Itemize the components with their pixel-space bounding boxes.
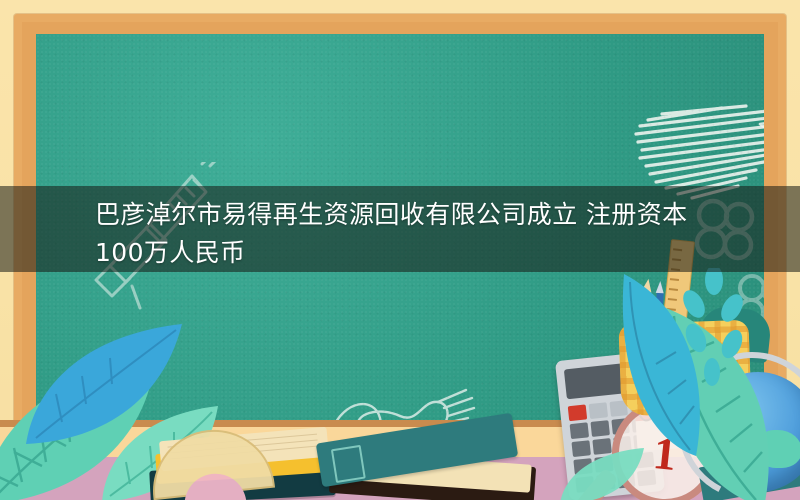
headline-text: 巴彦淖尔市易得再生资源回收有限公司成立 注册资本100万人民币	[95, 196, 725, 272]
thumbnail-image: 64 1 Home School	[0, 0, 800, 500]
protractor-cutout	[181, 471, 247, 500]
leaf-small-center	[556, 444, 648, 500]
book-cover-label	[331, 445, 366, 483]
chalk-star-icon	[756, 104, 764, 150]
leaf-sprig-right	[670, 268, 756, 398]
